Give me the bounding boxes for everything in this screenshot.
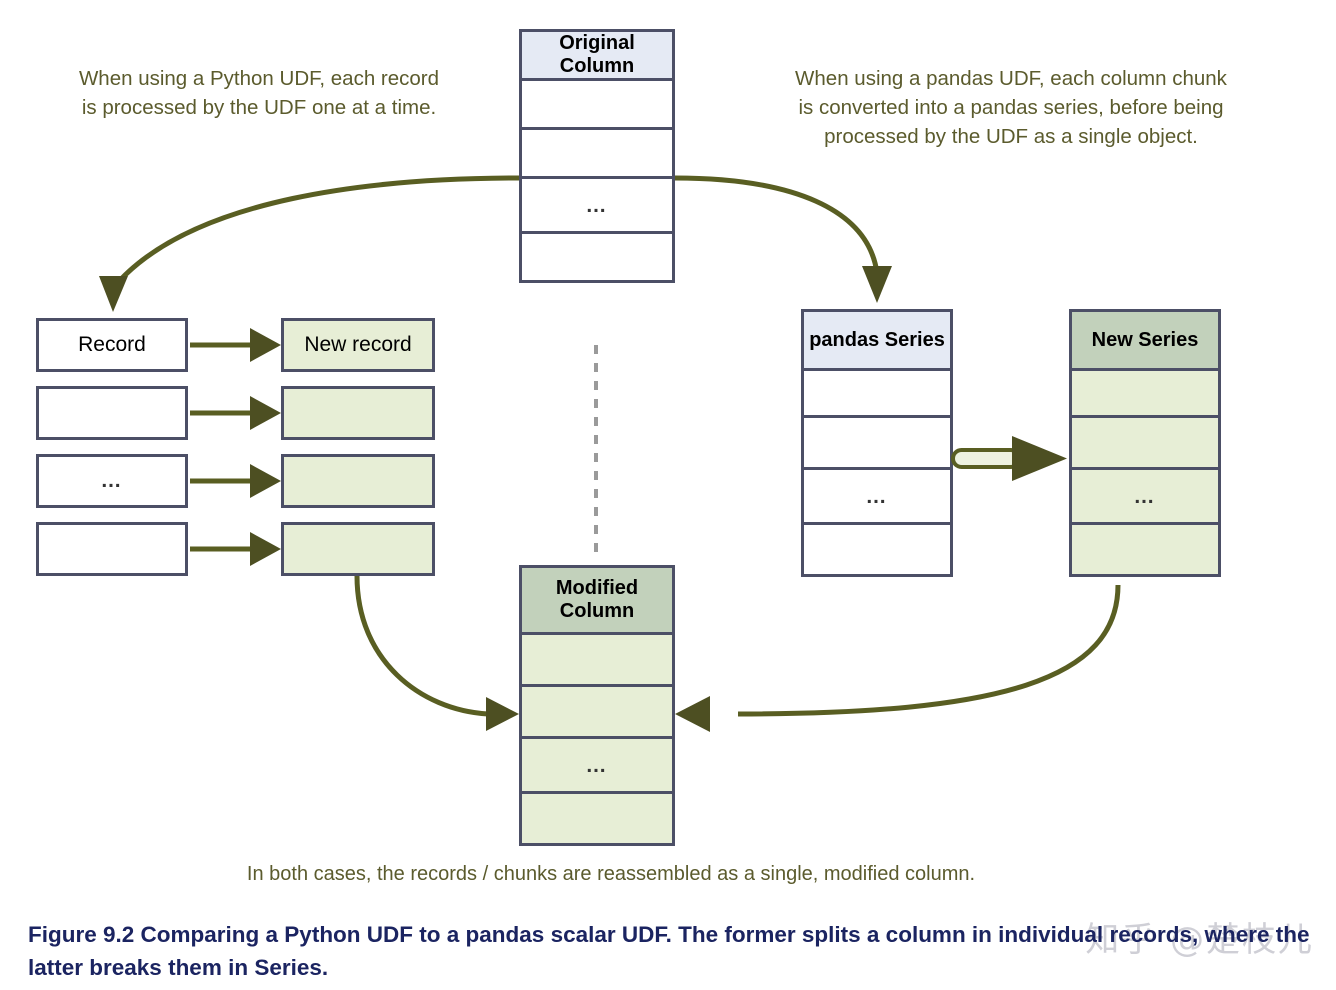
cell-text: … (866, 485, 889, 508)
record-box-label: … (101, 469, 124, 493)
original-column-header: Original Column (519, 29, 675, 81)
arrow-record-to-new-record (190, 396, 281, 430)
record-box-label: Record (78, 333, 146, 357)
arrow-new-series-to-modified-column (675, 585, 1118, 732)
record-box: Record (36, 318, 188, 372)
original-column-cell (519, 127, 675, 179)
original-column-cell (519, 231, 675, 283)
new-record-box-label: New record (304, 333, 411, 357)
cell-text: … (1134, 485, 1157, 508)
arrow-record-to-new-record (190, 328, 281, 362)
arrow-record-to-new-record (190, 532, 281, 566)
note-pandas-udf: When using a pandas UDF, each column chu… (706, 64, 1316, 151)
cell-text: … (586, 754, 609, 777)
figure-caption: Figure 9.2 Comparing a Python UDF to a p… (28, 918, 1318, 984)
note-reassembly: In both cases, the records / chunks are … (168, 861, 1054, 887)
pandas-series-cell (801, 368, 953, 418)
modified-column-cell (519, 684, 675, 739)
modified-column-cell (519, 791, 675, 846)
pandas-series-cell (801, 415, 953, 470)
new-record-box (281, 454, 435, 508)
record-box-ellipsis: … (36, 454, 188, 508)
pandas-series-header: pandas Series (801, 309, 953, 371)
new-series-cell-ellipsis: … (1069, 467, 1221, 525)
arrow-original-to-pandas-series (675, 178, 892, 303)
cell-text: … (586, 194, 609, 217)
new-record-box: New record (281, 318, 435, 372)
pandas-series-column: pandas Series … (801, 309, 953, 577)
modified-column-cell (519, 632, 675, 687)
note-python-udf: When using a Python UDF, each record is … (24, 64, 494, 122)
new-record-box (281, 522, 435, 576)
modified-column-header: Modified Column (519, 565, 675, 635)
figure-canvas: When using a Python UDF, each record is … (0, 0, 1336, 990)
new-series-cell (1069, 522, 1221, 577)
original-column-cell-ellipsis: … (519, 176, 675, 234)
record-box (36, 522, 188, 576)
arrow-record-to-new-record (190, 464, 281, 498)
record-box (36, 386, 188, 440)
arrow-new-records-to-modified-column (357, 576, 519, 731)
new-series-cell (1069, 368, 1221, 418)
modified-column: Modified Column … (519, 565, 675, 846)
new-series-cell (1069, 415, 1221, 470)
modified-column-cell-ellipsis: … (519, 736, 675, 794)
pandas-series-cell-ellipsis: … (801, 467, 953, 525)
new-record-box (281, 386, 435, 440)
arrow-pandas-series-to-new-series (953, 436, 1067, 481)
arrow-original-to-records (99, 178, 519, 312)
new-series-column: New Series … (1069, 309, 1221, 577)
pandas-series-cell (801, 522, 953, 577)
original-column: Original Column … (519, 29, 675, 283)
original-column-cell (519, 78, 675, 130)
new-series-header: New Series (1069, 309, 1221, 371)
